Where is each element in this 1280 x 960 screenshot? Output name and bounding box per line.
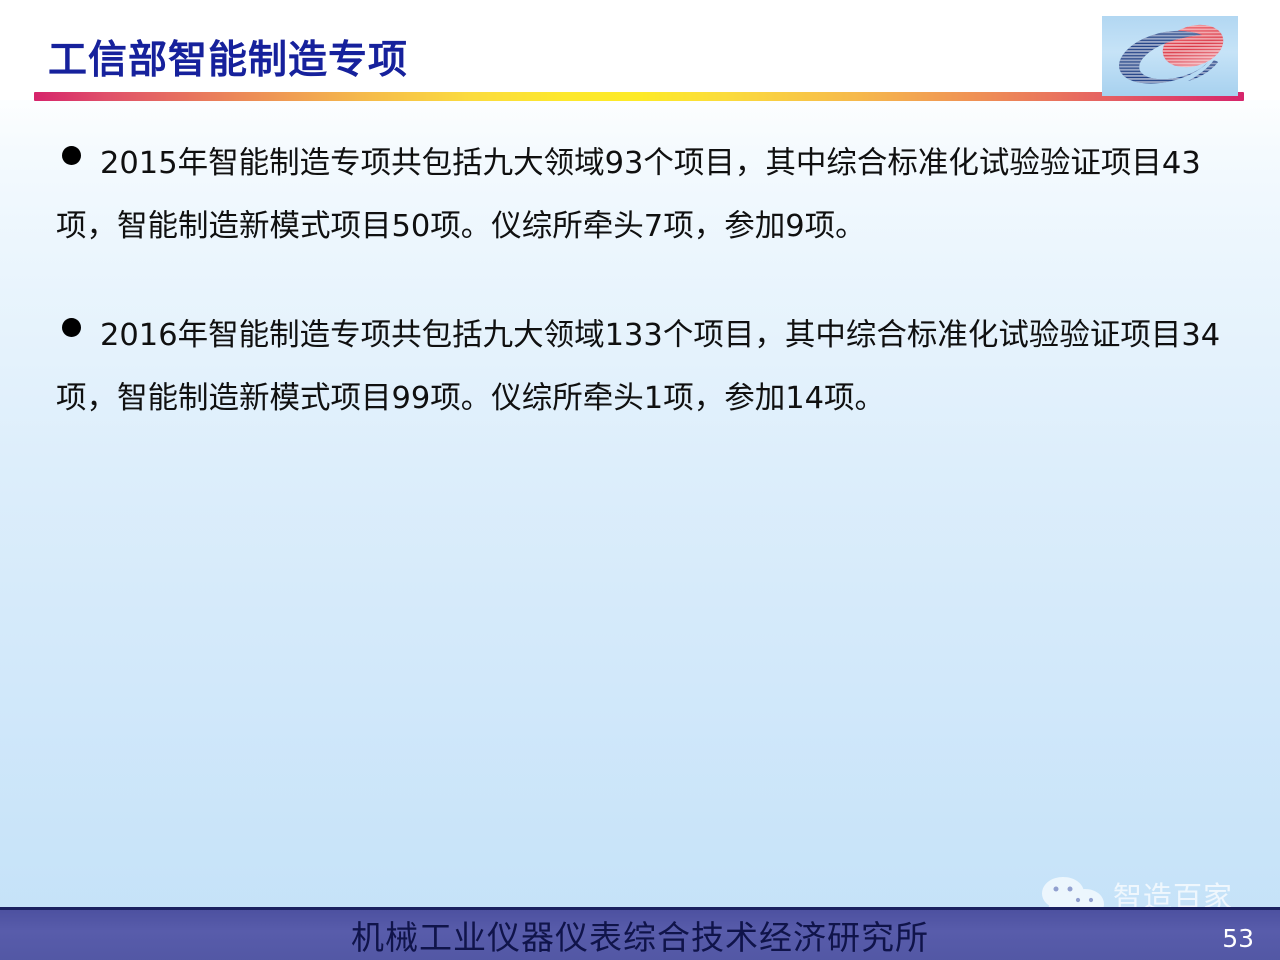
- wechat-dot: [1076, 898, 1080, 902]
- bullet-item: 2015年智能制造专项共包括九大领域93个项目，其中综合标准化试验验证项目43项…: [0, 132, 1280, 258]
- wechat-dot: [1054, 887, 1059, 892]
- bullet-marker-icon: [62, 318, 81, 337]
- bullet-item: 2016年智能制造专项共包括九大领域133个项目，其中综合标准化试验验证项目34…: [0, 304, 1280, 430]
- logo-graphic: [1102, 16, 1238, 96]
- bullet-marker-icon: [62, 146, 81, 165]
- bullet-text: 2015年智能制造专项共包括九大领域93个项目，其中综合标准化试验验证项目43项…: [56, 132, 1236, 258]
- slide-footer: 机械工业仪器仪表综合技术经济研究所 53: [0, 907, 1280, 960]
- organization-logo: [1102, 16, 1238, 96]
- slide: 工信部智能制造专项: [0, 0, 1280, 960]
- bullet-text: 2016年智能制造专项共包括九大领域133个项目，其中综合标准化试验验证项目34…: [56, 304, 1236, 430]
- title-underline-rule: [34, 92, 1244, 101]
- wechat-dot: [1068, 887, 1073, 892]
- footer-organization-name: 机械工业仪器仪表综合技术经济研究所: [0, 920, 1280, 956]
- slide-content: 2015年智能制造专项共包括九大领域93个项目，其中综合标准化试验验证项目43项…: [0, 132, 1280, 476]
- page-title: 工信部智能制造专项: [48, 41, 408, 80]
- wechat-dot: [1089, 898, 1093, 902]
- slide-header: 工信部智能制造专项: [0, 0, 1280, 108]
- page-number: 53: [1222, 926, 1254, 951]
